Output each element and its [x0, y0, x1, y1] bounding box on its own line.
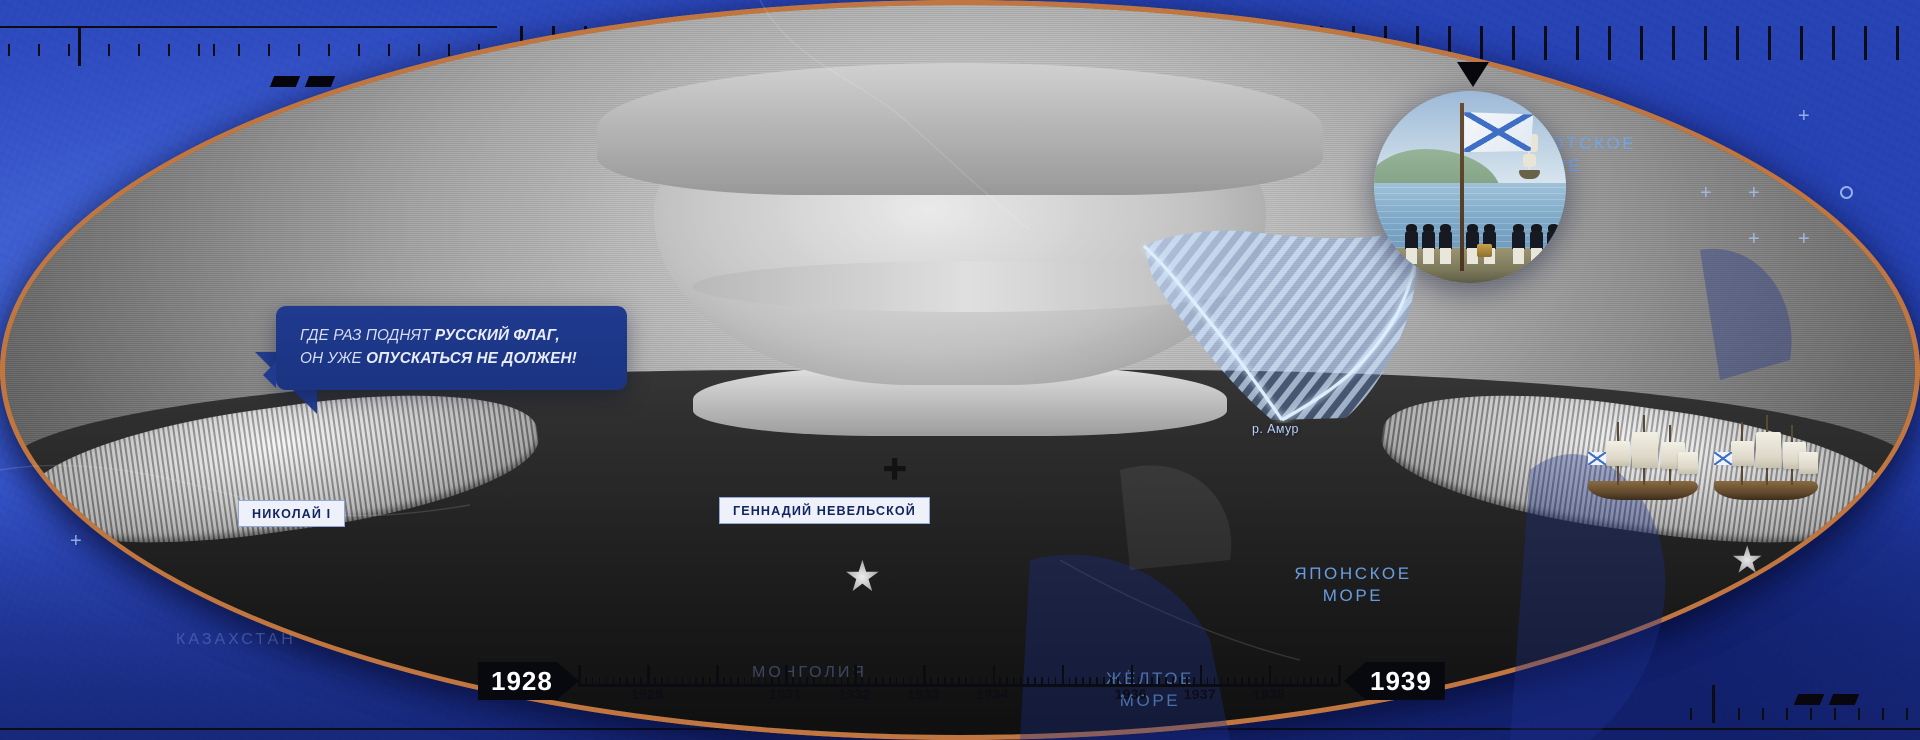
triangle-down-marker-icon: [1457, 62, 1489, 87]
timeline-minor-tick: [986, 677, 988, 686]
plus-marker-icon: +: [1748, 182, 1760, 205]
plus-marker-icon: +: [70, 530, 82, 553]
timeline-minor-tick: [868, 677, 870, 686]
timeline-minor-tick: [1124, 677, 1126, 686]
timeline-minor-tick: [1151, 677, 1153, 686]
timeline-minor-tick: [1117, 677, 1119, 686]
timeline-minor-tick: [903, 677, 905, 686]
photo-flag-cross-stroke: [1464, 112, 1533, 152]
timeline-minor-tick: [751, 677, 753, 686]
timeline-minor-tick: [1096, 677, 1098, 686]
timeline-minor-tick: [1006, 677, 1008, 686]
quote-line-2: ОН УЖЕ ОПУСКАТЬСЯ НЕ ДОЛЖЕН!: [300, 348, 605, 371]
timeline-minor-tick: [695, 677, 697, 686]
timeline-minor-tick: [1179, 677, 1181, 686]
circle-marker-icon: [1840, 186, 1853, 199]
timeline-minor-tick: [1158, 677, 1160, 686]
timeline-year-label: 1936: [1115, 686, 1147, 702]
timeline-minor-tick: [1290, 677, 1292, 686]
timeline-start-cap: 1928: [478, 662, 579, 700]
timeline-minor-tick: [958, 677, 960, 686]
russian-naval-ensign-icon: [1714, 452, 1732, 465]
timeline-major-tick: [1269, 665, 1272, 686]
photo-sailor: [1422, 224, 1435, 264]
timeline-minor-tick: [1172, 677, 1174, 686]
timeline-minor-tick: [689, 677, 691, 686]
timeline-minor-tick: [847, 677, 849, 686]
quote-line-2-bold: ОПУСКАТЬСЯ НЕ ДОЛЖЕН!: [366, 350, 577, 367]
timeline-minor-tick: [861, 677, 863, 686]
timeline-minor-tick: [1303, 677, 1305, 686]
timeline-minor-tick: [792, 677, 794, 686]
timeline-minor-tick: [1138, 677, 1140, 686]
quote-line-1-bold: РУССКИЙ ФЛАГ,: [435, 327, 560, 344]
timeline-minor-tick: [1227, 677, 1229, 686]
timeline-minor-tick: [1214, 677, 1216, 686]
ship-sail: [1731, 441, 1754, 467]
plus-marker-icon: +: [1700, 182, 1712, 205]
timeline-minor-tick: [626, 677, 628, 686]
timeline-minor-tick: [1207, 677, 1209, 686]
timeline-minor-tick: [1324, 677, 1326, 686]
timeline-minor-tick: [668, 677, 670, 686]
timeline-major-tick: [993, 665, 996, 686]
timeline-minor-tick: [1193, 677, 1195, 686]
timeline-minor-tick: [1234, 677, 1236, 686]
timeline-minor-tick: [1331, 677, 1333, 686]
river-label-amur: р. Амур: [1252, 422, 1299, 436]
timeline-year-label: 1934: [976, 686, 1008, 702]
timeline-minor-tick: [661, 677, 663, 686]
timeline-minor-tick: [1317, 677, 1319, 686]
timeline-major-tick: [785, 665, 788, 686]
timeline-minor-tick: [875, 677, 877, 686]
timeline-minor-tick: [709, 677, 711, 686]
plus-marker-icon: +: [1798, 228, 1810, 251]
timeline-minor-tick: [799, 677, 801, 686]
timeline-minor-tick: [771, 677, 773, 686]
timeline-minor-tick: [1103, 677, 1105, 686]
ship-sail: [1756, 432, 1781, 468]
timeline-minor-tick: [1310, 677, 1312, 686]
timeline-minor-tick: [758, 677, 760, 686]
timeline-minor-tick: [1110, 677, 1112, 686]
timeline-minor-tick: [730, 677, 732, 686]
timeline-minor-tick: [896, 677, 898, 686]
timeline-minor-tick: [979, 677, 981, 686]
timeline-minor-tick: [619, 677, 621, 686]
timeline-minor-tick: [702, 677, 704, 686]
timeline-minor-tick: [917, 677, 919, 686]
timeline-minor-tick: [778, 677, 780, 686]
photo-flagpole: [1460, 103, 1464, 272]
photo-officer: [1530, 224, 1543, 264]
timeline[interactable]: 1928 1939 192919311932193319341936193719…: [0, 632, 1920, 740]
timeline-minor-tick: [723, 677, 725, 686]
timeline-year-label: 1938: [1253, 686, 1285, 702]
timeline-minor-tick: [1082, 677, 1084, 686]
sailing-ship-right: [1714, 415, 1818, 500]
timeline-minor-tick: [965, 677, 967, 686]
quote-line-1-regular: ГДЕ РАЗ ПОДНЯТ: [300, 327, 435, 344]
photo-officer: [1512, 224, 1525, 264]
timeline-minor-tick: [889, 677, 891, 686]
timeline-year-label: 1937: [1184, 686, 1216, 702]
timeline-minor-tick: [737, 677, 739, 686]
timeline-minor-tick: [1283, 677, 1285, 686]
quote-line-2-regular: ОН УЖЕ: [300, 350, 366, 367]
timeline-minor-tick: [606, 677, 608, 686]
timeline-minor-tick: [1297, 677, 1299, 686]
timeline-minor-tick: [937, 677, 939, 686]
timeline-minor-tick: [1041, 677, 1043, 686]
infographic-stage: ОХОТСКОЕ МОРЕ ЯПОНСКОЕ МОРЕ ЖЁЛТОЕ МОРЕ …: [0, 0, 1920, 740]
quote-card-tail: [250, 362, 276, 388]
russian-naval-ensign-icon: [1588, 452, 1606, 465]
timeline-minor-tick: [1241, 677, 1243, 686]
timeline-minor-tick: [1248, 677, 1250, 686]
timeline-minor-tick: [654, 677, 656, 686]
timeline-minor-tick: [1186, 677, 1188, 686]
timeline-major-tick: [1200, 665, 1203, 686]
timeline-minor-tick: [633, 677, 635, 686]
nameplate-nevelskoy: ГЕННАДИЙ НЕВЕЛЬСКОЙ: [719, 497, 930, 524]
sailing-ship-left: [1588, 415, 1698, 500]
timeline-minor-tick: [806, 677, 808, 686]
timeline-major-tick: [578, 665, 581, 686]
timeline-minor-tick: [613, 677, 615, 686]
ship-sail: [1632, 432, 1658, 468]
timeline-minor-tick: [1089, 677, 1091, 686]
timeline-year-label: 1933: [907, 686, 939, 702]
timeline-minor-tick: [813, 677, 815, 686]
timeline-year-label: 1931: [769, 686, 801, 702]
timeline-minor-tick: [765, 677, 767, 686]
photo-sailor: [1405, 224, 1418, 264]
plus-marker-icon: +: [1798, 105, 1810, 128]
timeline-year-label: 1929: [631, 686, 663, 702]
timeline-minor-tick: [744, 677, 746, 686]
plus-marker-icon: +: [1748, 228, 1760, 251]
timeline-minor-tick: [1221, 677, 1223, 686]
timeline-minor-tick: [585, 677, 587, 686]
flag-raising-photo[interactable]: [1374, 91, 1566, 283]
timeline-minor-tick: [1034, 677, 1036, 686]
timeline-major-tick: [1062, 665, 1065, 686]
timeline-minor-tick: [675, 677, 677, 686]
timeline-minor-tick: [1075, 677, 1077, 686]
nameplate-nicholas-i: НИКОЛАЙ I: [238, 500, 345, 527]
timeline-minor-tick: [972, 677, 974, 686]
timeline-minor-tick: [827, 677, 829, 686]
timeline-major-tick: [854, 665, 857, 686]
timeline-year-label: 1932: [838, 686, 870, 702]
timeline-minor-tick: [599, 677, 601, 686]
timeline-minor-tick: [930, 677, 932, 686]
timeline-minor-tick: [1027, 677, 1029, 686]
timeline-major-tick: [1131, 665, 1134, 686]
photo-officer: [1547, 224, 1560, 264]
timeline-minor-tick: [834, 677, 836, 686]
timeline-minor-tick: [882, 677, 884, 686]
timeline-minor-tick: [910, 677, 912, 686]
timeline-minor-tick: [1255, 677, 1257, 686]
timeline-minor-tick: [1013, 677, 1015, 686]
photo-drummer: [1483, 224, 1496, 264]
timeline-minor-tick: [1262, 677, 1264, 686]
timeline-major-tick: [1338, 665, 1341, 686]
timeline-minor-tick: [1048, 677, 1050, 686]
timeline-minor-tick: [820, 677, 822, 686]
timeline-minor-tick: [640, 677, 642, 686]
timeline-minor-tick: [841, 677, 843, 686]
timeline-major-tick: [647, 665, 650, 686]
timeline-minor-tick: [592, 677, 594, 686]
ship-jib-sail: [1799, 452, 1818, 474]
photo-sailor: [1439, 224, 1452, 264]
timeline-minor-tick: [999, 677, 1001, 686]
ship-jib-sail: [1678, 452, 1698, 474]
timeline-minor-tick: [1069, 677, 1071, 686]
timeline-minor-tick: [951, 677, 953, 686]
quote-line-1: ГДЕ РАЗ ПОДНЯТ РУССКИЙ ФЛАГ,: [300, 325, 605, 348]
timeline-minor-tick: [1165, 677, 1167, 686]
timeline-minor-tick: [1020, 677, 1022, 686]
ship-sail: [1606, 441, 1630, 467]
timeline-major-tick: [716, 665, 719, 686]
timeline-major-tick: [923, 665, 926, 686]
quote-card: ГДЕ РАЗ ПОДНЯТ РУССКИЙ ФЛАГ, ОН УЖЕ ОПУС…: [276, 306, 627, 390]
timeline-minor-tick: [1055, 677, 1057, 686]
timeline-minor-tick: [944, 677, 946, 686]
timeline-end-cap: 1939: [1344, 662, 1445, 700]
timeline-minor-tick: [1145, 677, 1147, 686]
timeline-minor-tick: [682, 677, 684, 686]
timeline-minor-tick: [1276, 677, 1278, 686]
